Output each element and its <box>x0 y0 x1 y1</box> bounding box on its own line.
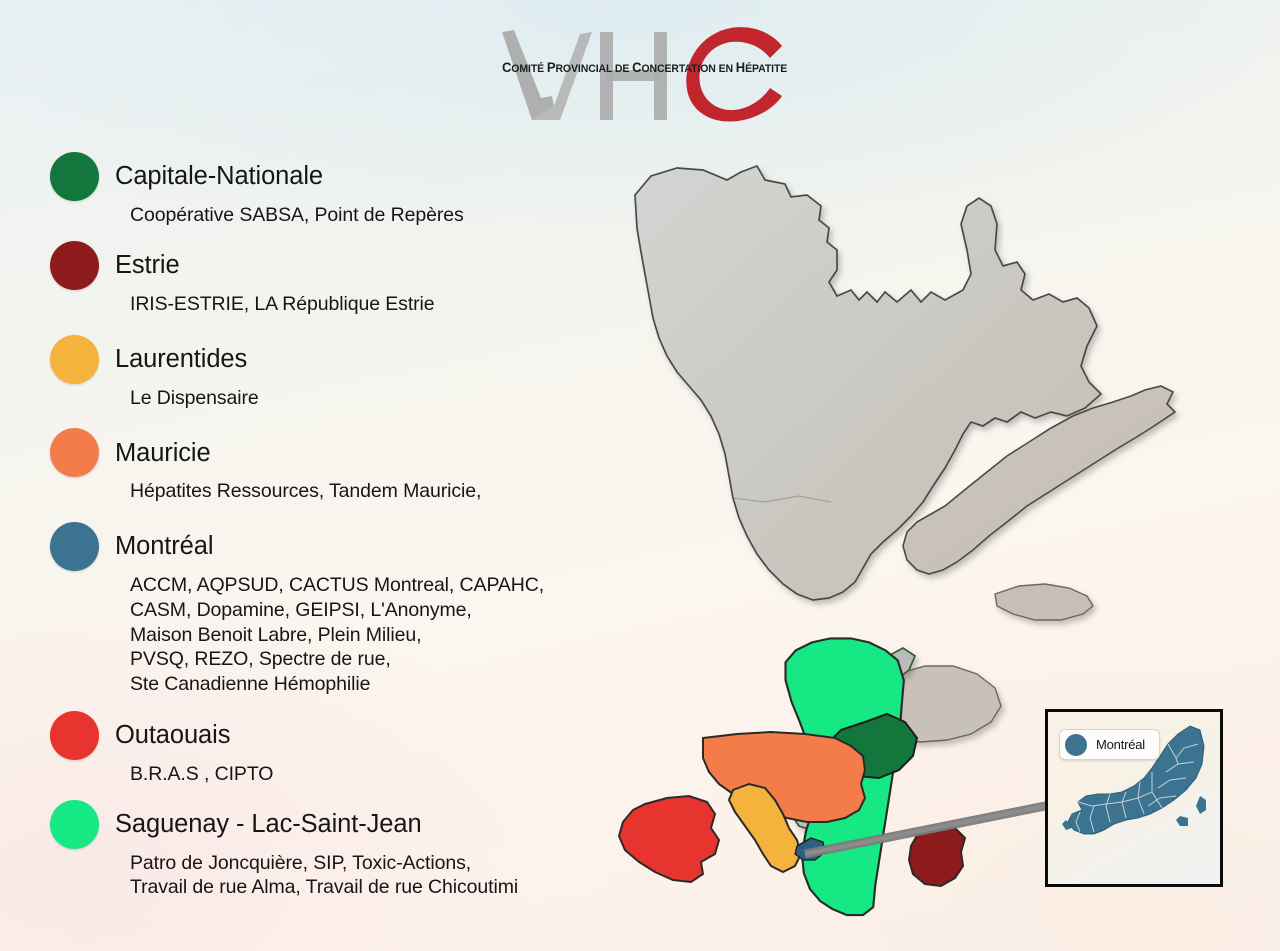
spacer <box>50 410 660 428</box>
slide-canvas: COMITÉ PROVINCIAL DE CONCERTATION EN HÉP… <box>0 0 1280 951</box>
inset-legend-dot <box>1065 734 1087 756</box>
inset-legend-label: Montréal <box>1096 737 1145 752</box>
inset-legend-box: Montréal <box>1059 729 1160 760</box>
legend-item-estrie[interactable]: Estrie IRIS-ESTRIE, LA République Estrie <box>50 241 660 317</box>
montreal-inset-map[interactable]: Montréal <box>1045 709 1223 887</box>
region-legend: Capitale-Nationale Coopérative SABSA, Po… <box>50 152 660 900</box>
legend-item-capitale-nationale[interactable]: Capitale-Nationale Coopérative SABSA, Po… <box>50 152 660 228</box>
legend-org-list: Le Dispensaire <box>130 386 660 411</box>
map-landmass-base <box>635 166 1101 600</box>
spacer <box>50 317 660 335</box>
legend-dot-saguenay <box>50 800 99 849</box>
legend-org-list: Patro de Joncquière, SIP, Toxic-Actions,… <box>130 851 660 901</box>
legend-org-list: IRIS-ESTRIE, LA République Estrie <box>130 292 660 317</box>
legend-region-label: Outaouais <box>115 721 230 749</box>
logo-subtitle: COMITÉ PROVINCIAL DE CONCERTATION EN HÉP… <box>502 60 702 76</box>
legend-org-list: B.R.A.S , CIPTO <box>130 762 660 787</box>
legend-dot-capitale-nationale <box>50 152 99 201</box>
legend-dot-mauricie <box>50 428 99 477</box>
legend-region-label: Montréal <box>115 532 213 560</box>
map-anticosti-island <box>995 584 1093 620</box>
legend-region-label: Mauricie <box>115 439 211 467</box>
legend-region-label: Estrie <box>115 251 180 279</box>
legend-dot-outaouais <box>50 711 99 760</box>
legend-dot-montreal <box>50 522 99 571</box>
map-region-mauricie[interactable] <box>703 732 865 822</box>
legend-item-outaouais[interactable]: Outaouais B.R.A.S , CIPTO <box>50 711 660 787</box>
legend-item-montreal[interactable]: Montréal ACCM, AQPSUD, CACTUS Montreal, … <box>50 522 660 697</box>
legend-item-mauricie[interactable]: Mauricie Hépatites Ressources, Tandem Ma… <box>50 428 660 504</box>
legend-org-list: Coopérative SABSA, Point de Repères <box>130 203 660 228</box>
legend-dot-estrie <box>50 241 99 290</box>
legend-org-list: ACCM, AQPSUD, CACTUS Montreal, CAPAHC, C… <box>130 573 660 697</box>
legend-item-saguenay[interactable]: Saguenay - Lac-Saint-Jean Patro de Joncq… <box>50 800 660 901</box>
legend-dot-laurentides <box>50 335 99 384</box>
legend-item-laurentides[interactable]: Laurentides Le Dispensaire <box>50 335 660 411</box>
logo-letter-h <box>600 32 667 120</box>
spacer <box>50 504 660 522</box>
map-region-outaouais[interactable] <box>619 796 719 882</box>
spacer <box>50 787 660 800</box>
legend-region-label: Laurentides <box>115 345 247 373</box>
legend-region-label: Saguenay - Lac-Saint-Jean <box>115 810 422 838</box>
vhc-logo: COMITÉ PROVINCIAL DE CONCERTATION EN HÉP… <box>494 24 794 124</box>
legend-region-label: Capitale-Nationale <box>115 162 323 190</box>
spacer <box>50 228 660 241</box>
legend-org-list: Hépatites Ressources, Tandem Mauricie, <box>130 479 660 504</box>
spacer <box>50 697 660 711</box>
